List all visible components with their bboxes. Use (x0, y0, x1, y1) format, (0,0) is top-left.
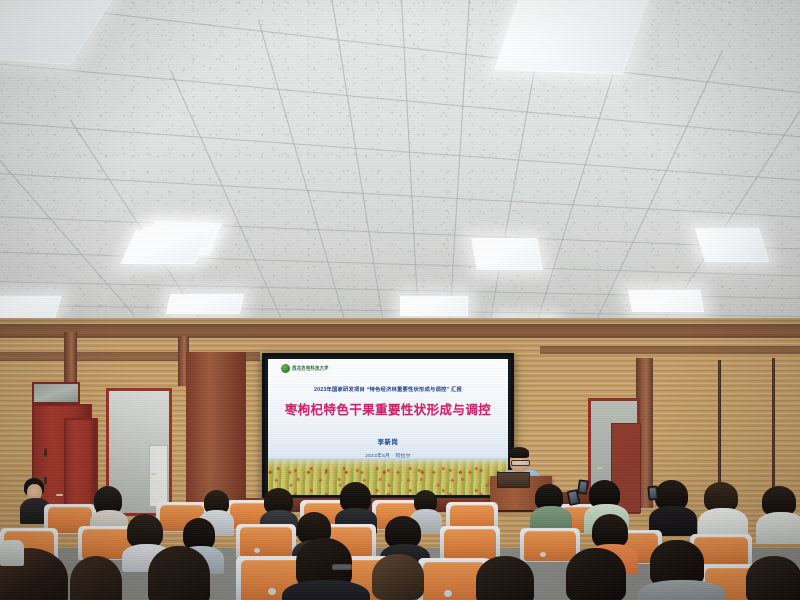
ceiling-light-panel (400, 296, 468, 316)
audience-member-front (70, 556, 122, 600)
audience-hair (127, 514, 163, 548)
seat-knob (268, 588, 276, 595)
slide-field-photo (268, 458, 508, 495)
phone-screen (569, 491, 578, 503)
university-name-en: NORTHWEST A&F UNIVERSITY (292, 370, 329, 372)
audience-hair (148, 546, 210, 600)
ceiling-light-panel (695, 228, 769, 262)
ceiling-light-panel (0, 296, 61, 320)
audience-member-front (742, 556, 800, 600)
audience-hair (70, 556, 122, 600)
audience-member-front (642, 540, 720, 600)
door-lever-handle[interactable] (56, 494, 63, 496)
ceiling-light-panel (120, 230, 209, 264)
seat[interactable] (444, 529, 496, 559)
wall-upper-trim (0, 324, 800, 338)
audience-hair (746, 556, 800, 600)
inner-door-handle[interactable] (151, 473, 156, 475)
audience-hair (592, 514, 628, 548)
door-left-transom (32, 382, 80, 404)
audience-member-photographing (652, 478, 694, 534)
university-emblem-icon (281, 364, 290, 373)
smartphone[interactable] (577, 479, 589, 494)
presentation-slide: 西北农林科技大学 NORTHWEST A&F UNIVERSITY 2023年国… (268, 359, 508, 495)
ceiling-light-panel (628, 290, 704, 312)
audience-hair (476, 556, 534, 600)
smartphone[interactable] (647, 486, 658, 501)
ceiling-light-panel (166, 294, 244, 314)
audience-member-front (148, 546, 212, 600)
wall-pillar-right (186, 352, 246, 512)
university-logo: 西北农林科技大学 NORTHWEST A&F UNIVERSITY (281, 364, 329, 373)
slide-title: 枣枸杞特色干果重要性状形成与调控 (268, 400, 508, 418)
seat-knob (444, 590, 452, 597)
audience-hair (372, 554, 424, 600)
seat-knob (254, 548, 260, 553)
audience-shoulders (756, 512, 800, 544)
audience-sleeve (0, 540, 24, 566)
projection-screen: 西北农林科技大学 NORTHWEST A&F UNIVERSITY 2023年国… (262, 353, 514, 501)
audience-hair (566, 548, 626, 600)
phone-screen (649, 488, 656, 499)
ceiling-light-panel (471, 238, 543, 270)
presenter-laptop (497, 472, 530, 488)
phone-screen (579, 482, 586, 493)
audience-member (700, 482, 744, 538)
lecture-hall-photo: 西北农林科技大学 NORTHWEST A&F UNIVERSITY 2023年国… (0, 0, 800, 600)
audience-member-front (556, 548, 640, 600)
presenter-hair (509, 447, 529, 458)
audience-glasses (332, 564, 352, 570)
slide-author: 李新岗 (268, 437, 508, 446)
ceiling (0, 0, 800, 348)
audience-member (758, 486, 800, 542)
seat[interactable] (240, 527, 292, 557)
audience-member-front (286, 538, 364, 600)
door-handle[interactable] (44, 448, 47, 457)
audience-member-front (472, 556, 544, 600)
audience-shoulders (282, 580, 370, 600)
audience-shoulders (638, 580, 726, 600)
right-door-handle[interactable] (597, 467, 603, 469)
wall-upper-trim (540, 346, 800, 354)
presenter-glasses (511, 460, 530, 466)
slide-subtitle: 2023年国家研发项目 “特色经济林重要性状形成与调控” 汇报 (268, 385, 508, 393)
audience-arm-left-edge (0, 534, 24, 564)
audience-member-front (366, 554, 436, 600)
inner-door[interactable] (149, 445, 168, 507)
audience-member-photographing (532, 482, 570, 532)
